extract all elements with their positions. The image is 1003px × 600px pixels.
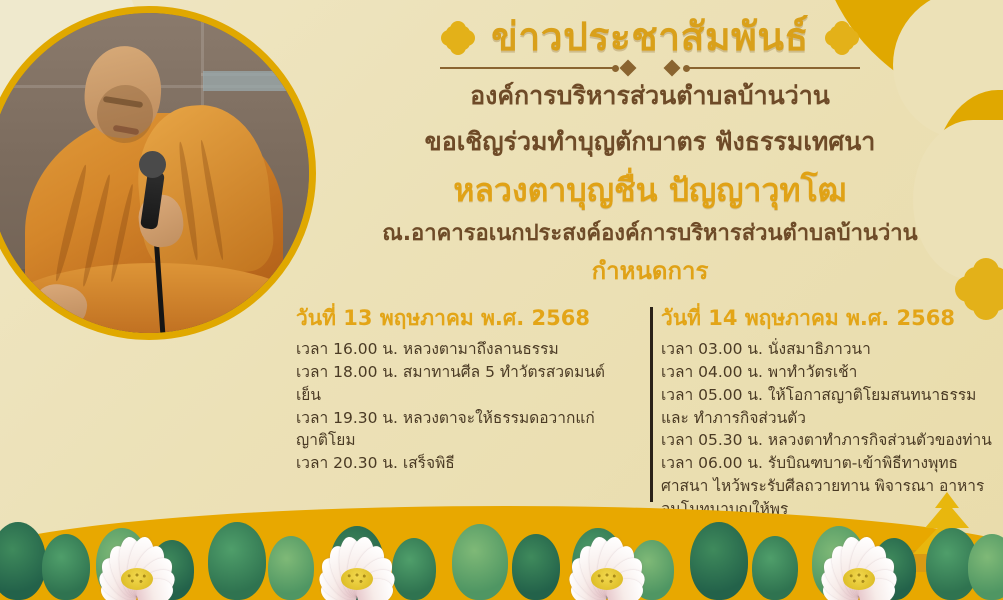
lotus-leaf-icon xyxy=(452,524,508,600)
schedule-columns: วันที่ 13 พฤษภาคม พ.ศ. 2568 เวลา 16.00 น… xyxy=(296,305,996,521)
lotus-leaf-icon xyxy=(208,522,266,600)
monk-name: หลวงตาบุญชื่น ปัญญาวุทโฒ xyxy=(300,170,1000,210)
announcement-poster: ข่าวประชาสัมพันธ์ องค์การบริหารส่วนตำบลบ… xyxy=(0,0,1003,600)
lotus-flower-icon xyxy=(298,504,416,596)
schedule-item: เวลา 05.00 น. ให้โอกาสญาติโยมสนทนาธรรมแล… xyxy=(661,384,993,430)
schedule-item: เวลา 18.00 น. สมาทานศีล 5 ทำวัตรสวดมนต์เ… xyxy=(296,361,623,407)
headline-block: ข่าวประชาสัมพันธ์ องค์การบริหารส่วนตำบลบ… xyxy=(300,16,1000,286)
lotus-leaf-icon xyxy=(968,534,1003,600)
item-time: เวลา 19.30 น. xyxy=(296,409,398,427)
lotus-flower-icon xyxy=(800,504,918,596)
title-flourish-divider xyxy=(440,61,860,75)
lotus-flower-icon xyxy=(548,504,666,596)
item-time: เวลา 05.00 น. xyxy=(661,386,763,404)
lotus-leaf-icon xyxy=(752,536,798,600)
schedule-item: เวลา 04.00 น. พาทำวัตรเช้า xyxy=(661,361,993,384)
item-time: เวลา 16.00 น. xyxy=(296,340,398,358)
lotus-center-icon xyxy=(843,568,875,590)
lotus-flower-icon xyxy=(78,504,196,596)
golden-pagoda-tier3-icon xyxy=(935,492,959,508)
monk-portrait-photo xyxy=(0,6,316,340)
schedule-item: เวลา 20.30 น. เสร็จพิธี xyxy=(296,452,623,475)
item-text: เสร็จพิธี xyxy=(403,454,455,472)
item-text: หลวงตามาถึงลานธรรม xyxy=(403,340,559,358)
lotus-center-icon xyxy=(591,568,623,590)
item-time: เวลา 05.30 น. xyxy=(661,431,763,449)
venue-line: ณ.อาคารอเนกประสงค์องค์การบริหารส่วนตำบลบ… xyxy=(300,220,1000,249)
item-time: เวลา 03.00 น. xyxy=(661,340,763,358)
schedule-item: เวลา 05.30 น. หลวงตาทำภารกิจส่วนตัวของท่… xyxy=(661,429,993,452)
schedule-item: เวลา 16.00 น. หลวงตามาถึงลานธรรม xyxy=(296,338,623,361)
schedule-item: เวลา 03.00 น. นั่งสมาธิภาวนา xyxy=(661,338,993,361)
schedule-heading: กำหนดการ xyxy=(300,257,1000,286)
invitation-line: ขอเชิญร่วมทำบุญตักบาตร ฟังธรรมเทศนา xyxy=(300,125,1000,159)
schedule-item: เวลา 19.30 น. หลวงตาจะให้ธรรมดอวากแก่ญาต… xyxy=(296,407,623,453)
schedule-column-day2: วันที่ 14 พฤษภาคม พ.ศ. 2568 เวลา 03.00 น… xyxy=(641,305,993,521)
item-time: เวลา 20.30 น. xyxy=(296,454,398,472)
item-text: พาทำวัตรเช้า xyxy=(768,363,857,381)
item-continuation: ไหว้พระรับศีลถวายทาน พิจารณา xyxy=(713,477,934,495)
lotus-center-icon xyxy=(121,568,153,590)
item-text: หลวงตาทำภารกิจส่วนตัวของท่าน xyxy=(768,431,992,449)
quatrefoil-ornament-icon-left xyxy=(441,21,475,55)
organization-name: องค์การบริหารส่วนตำบลบ้านว่าน xyxy=(300,79,1000,113)
schedule-column-day1: วันที่ 13 พฤษภาคม พ.ศ. 2568 เวลา 16.00 น… xyxy=(296,305,641,521)
lotus-leaf-icon xyxy=(690,522,748,600)
item-time: เวลา 04.00 น. xyxy=(661,363,763,381)
title-row: ข่าวประชาสัมพันธ์ xyxy=(300,16,1000,60)
day-heading: วันที่ 14 พฤษภาคม พ.ศ. 2568 xyxy=(661,305,993,332)
item-continuation: ทำภารกิจส่วนตัว xyxy=(694,409,806,427)
item-time: เวลา 18.00 น. xyxy=(296,363,398,381)
lotus-center-icon xyxy=(341,568,373,590)
item-time: เวลา 06.00 น. xyxy=(661,454,763,472)
item-text: นั่งสมาธิภาวนา xyxy=(768,340,871,358)
day-heading: วันที่ 13 พฤษภาคม พ.ศ. 2568 xyxy=(296,305,623,332)
quatrefoil-ornament-icon-right xyxy=(825,21,859,55)
page-title: ข่าวประชาสัมพันธ์ xyxy=(491,16,809,60)
